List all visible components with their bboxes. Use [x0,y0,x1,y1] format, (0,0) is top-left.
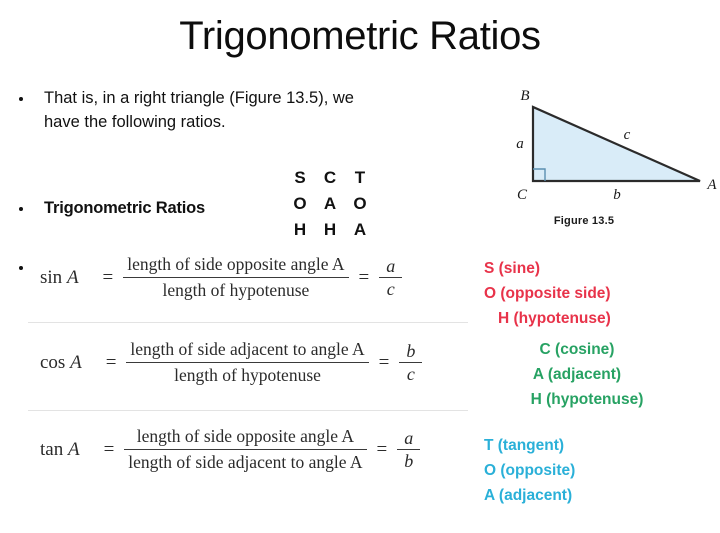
formula-sine-denominator: length of hypotenuse [159,278,314,303]
formula-tangent-equals: = [94,439,125,461]
vertex-label-c: C [517,187,528,203]
formula-tangent-equals2: = [367,439,398,461]
vertex-label-b: B [520,88,529,104]
legend-cah-line-0: C (cosine) [484,337,694,362]
formula-sine-result: a c [379,255,402,300]
formula-separator-1 [28,322,468,323]
legend-soh-line-0: S (sine) [484,256,611,281]
formula-sine-fraction: length of side opposite angle A length o… [123,252,348,303]
bullet-marker-formulas [19,266,23,270]
legend-toa-line-2: A (adjacent) [484,483,575,508]
formula-tangent-fraction: length of side opposite angle A length o… [124,424,366,475]
formula-tangent-name: tan A [40,439,94,461]
legend-group-cah: C (cosine) A (adjacent) H (hypotenuse) [484,337,694,412]
formula-cosine-result: b c [399,340,422,385]
mnemonic-cell-2-2: A [348,217,372,243]
formula-cosine-result-numerator: b [399,340,422,362]
vertex-label-a: A [706,177,717,193]
legend-toa-line-1: O (opposite) [484,458,575,483]
mnemonic-cell-1-0: O [288,191,312,217]
legend-cah-line-1: A (adjacent) [484,362,694,387]
formula-cosine-equals: = [96,352,127,374]
formula-sine: sin A = length of side opposite angle A … [40,252,402,303]
formula-tangent-result-numerator: a [397,427,420,449]
bullet-text-label: Trigonometric Ratios [44,196,205,220]
legend-group-soh: S (sine) O (opposite side) H (hypotenuse… [484,256,611,331]
legend-cah-line-2: H (hypotenuse) [484,387,694,412]
formula-separator-2 [28,410,468,411]
legend-soh-line-2: H (hypotenuse) [484,306,611,331]
mnemonic-cell-2-0: H [288,217,312,243]
formula-sine-equals: = [93,267,124,289]
mnemonic-cell-1-1: A [318,191,342,217]
legend-toa-line-0: T (tangent) [484,433,575,458]
formula-tangent-denominator: length of side adjacent to angle A [124,450,366,475]
figure-caption: Figure 13.5 [484,215,684,227]
formula-tangent-numerator: length of side opposite angle A [133,424,358,449]
bullet-marker-label [19,207,23,211]
formula-tangent-result-denominator: b [397,450,420,472]
formula-sine-equals2: = [349,267,380,289]
bullet-text-intro: That is, in a right triangle (Figure 13.… [44,86,374,134]
formula-sine-name: sin A [40,267,93,289]
right-triangle-figure: B a C b c A [484,84,720,232]
mnemonic-cell-0-0: S [288,165,312,191]
side-label-c: c [624,127,631,143]
legend-soh-line-1: O (opposite side) [484,281,611,306]
mnemonic-grid: S C T O A O H H A [288,165,372,243]
formula-sine-numerator: length of side opposite angle A [123,252,348,277]
mnemonic-cell-0-1: C [318,165,342,191]
formula-cosine: cos A = length of side adjacent to angle… [40,337,422,388]
mnemonic-cell-2-1: H [318,217,342,243]
formula-cosine-result-denominator: c [400,363,422,385]
page-title: Trigonometric Ratios [0,14,720,59]
side-label-a: a [516,136,524,152]
formula-sine-result-numerator: a [379,255,402,277]
formula-cosine-equals2: = [369,352,400,374]
mnemonic-cell-0-2: T [348,165,372,191]
formula-cosine-fraction: length of side adjacent to angle A lengt… [126,337,368,388]
formula-cosine-denominator: length of hypotenuse [170,363,325,388]
mnemonic-cell-1-2: O [348,191,372,217]
side-label-b: b [613,187,621,203]
formula-cosine-name: cos A [40,352,96,374]
legend-group-toa: T (tangent) O (opposite) A (adjacent) [484,433,575,508]
formula-cosine-numerator: length of side adjacent to angle A [126,337,368,362]
formula-tangent: tan A = length of side opposite angle A … [40,424,420,475]
triangle-shape [533,107,700,181]
formula-sine-result-denominator: c [380,278,402,300]
formula-tangent-result: a b [397,427,420,472]
bullet-marker-intro [19,97,23,101]
